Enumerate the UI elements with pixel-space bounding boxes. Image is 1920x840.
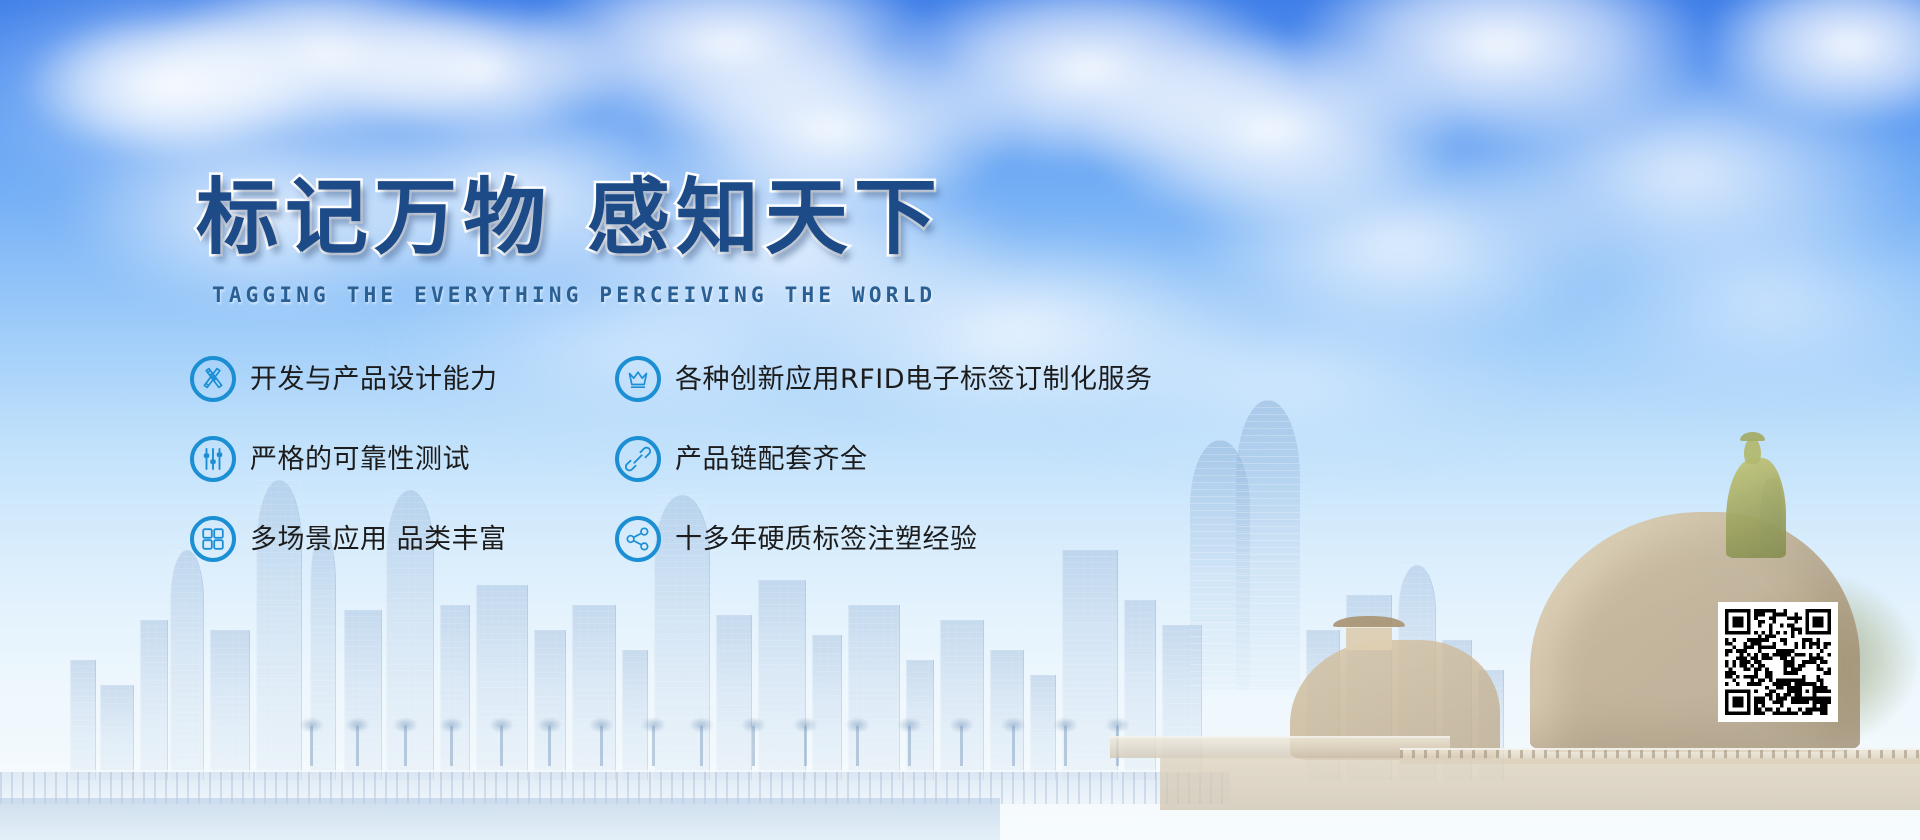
feature-label: 开发与产品设计能力 [250, 366, 498, 393]
headline: 标记万物 感知天下 [196, 150, 943, 270]
feature-label: 十多年硬质标签注塑经验 [675, 526, 978, 553]
banner-stage: 标记万物 感知天下 TAGGING THE EVERYTHING PERCEIV… [0, 0, 1920, 840]
bridge [1110, 736, 1450, 758]
feature-item-full-product-chain[interactable]: 产品链配套齐全 [615, 436, 868, 482]
qr-code[interactable] [1718, 602, 1838, 722]
small-rock [1290, 640, 1500, 760]
feature-label: 多场景应用 品类丰富 [250, 526, 507, 553]
beach [1160, 758, 1920, 810]
feature-item-rfid-custom-service[interactable]: 各种创新应用RFID电子标签订制化服务 [615, 356, 1153, 402]
grid-blocks-icon [190, 516, 236, 562]
feature-item-multi-scenario[interactable]: 多场景应用 品类丰富 [190, 516, 507, 562]
subheadline: TAGGING THE EVERYTHING PERCEIVING THE WO… [212, 283, 936, 307]
seawall [1400, 748, 1920, 764]
feature-item-design-capability[interactable]: 开发与产品设计能力 [190, 356, 498, 402]
feature-item-molding-experience[interactable]: 十多年硬质标签注塑经验 [615, 516, 978, 562]
feature-row: 开发与产品设计能力 各种创新应用RFID电子标签订制化服务 [190, 356, 1340, 436]
waterfront [0, 798, 1000, 840]
promenade [0, 770, 1230, 804]
feature-item-reliability-testing[interactable]: 严格的可靠性测试 [190, 436, 470, 482]
feature-list: 开发与产品设计能力 各种创新应用RFID电子标签订制化服务 [190, 356, 1340, 596]
feature-label: 各种创新应用RFID电子标签订制化服务 [675, 366, 1153, 393]
feature-row: 严格的可靠性测试 产品链配套齐全 [190, 436, 1340, 516]
feature-label: 严格的可靠性测试 [250, 446, 470, 473]
statue [1718, 438, 1790, 558]
crown-icon [615, 356, 661, 402]
feature-label: 产品链配套齐全 [675, 446, 868, 473]
share-nodes-icon [615, 516, 661, 562]
pagoda [1338, 616, 1400, 650]
link-chain-icon [615, 436, 661, 482]
qr-code-image [1725, 609, 1831, 715]
feature-row: 多场景应用 品类丰富 十多年硬质标签注塑经验 [190, 516, 1340, 596]
pencil-ruler-icon [190, 356, 236, 402]
palm-trees [300, 714, 1450, 766]
equalizer-icon [190, 436, 236, 482]
